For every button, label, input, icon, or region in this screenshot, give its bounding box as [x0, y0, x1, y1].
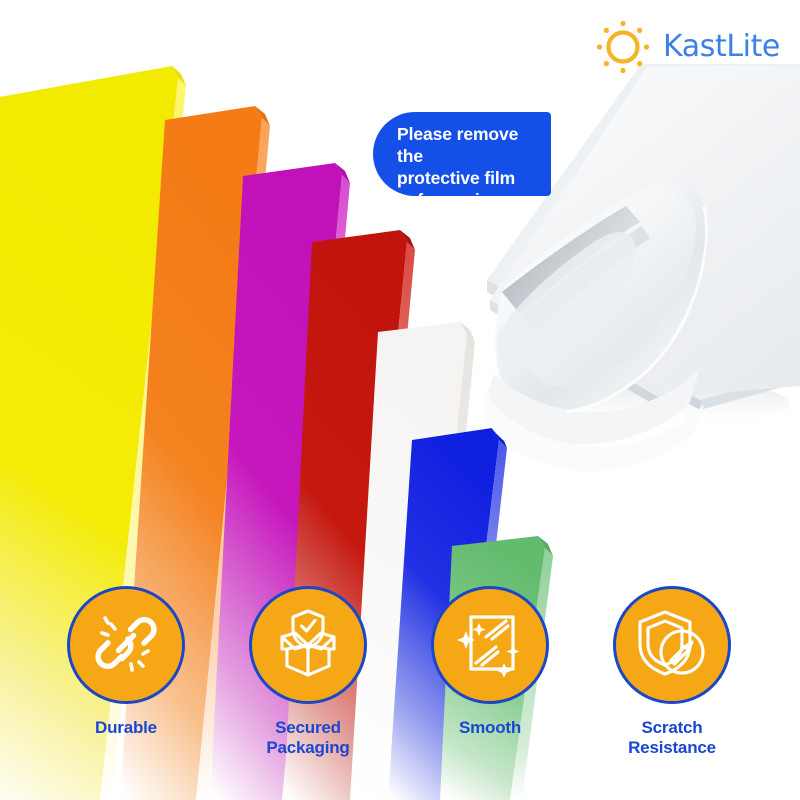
- chain-link-icon: [87, 604, 165, 687]
- feature-icon-circle: [67, 586, 185, 704]
- sparkle-panel-icon: [452, 605, 528, 686]
- feature-badges: Durable: [0, 586, 800, 786]
- feature-label-line: Durable: [35, 718, 217, 738]
- feature-badge-durable: Durable: [35, 586, 217, 738]
- shield-box-icon: [268, 603, 348, 688]
- brand-name: KastLite: [663, 32, 780, 62]
- product-marketing-image: KastLite Please remove the protective fi…: [0, 0, 800, 800]
- brand-logo: KastLite: [592, 16, 782, 78]
- feature-label: Secured Packaging: [217, 718, 399, 758]
- protective-film-notice: Please remove the protective film before…: [373, 112, 551, 196]
- feature-label: Durable: [35, 718, 217, 738]
- feature-label-line: Scratch: [581, 718, 763, 738]
- feature-label-line: Smooth: [399, 718, 581, 738]
- feature-icon-circle: [613, 586, 731, 704]
- feature-label: Scratch Resistance: [581, 718, 763, 758]
- sun-icon: [592, 16, 654, 78]
- notice-line-1: Please remove the: [397, 123, 537, 167]
- feature-icon-circle: [249, 586, 367, 704]
- feature-label-line: Packaging: [217, 738, 399, 758]
- notice-line-2: protective film: [397, 167, 537, 189]
- shield-blade-icon: [632, 603, 712, 688]
- feature-badge-secured-packaging: Secured Packaging: [217, 586, 399, 758]
- feature-label: Smooth: [399, 718, 581, 738]
- feature-icon-circle: [431, 586, 549, 704]
- feature-badge-scratch-resistance: Scratch Resistance: [581, 586, 763, 758]
- feature-label-line: Resistance: [581, 738, 763, 758]
- feature-badge-smooth: Smooth: [399, 586, 581, 738]
- feature-label-line: Secured: [217, 718, 399, 738]
- notice-line-3: before using: [397, 189, 537, 211]
